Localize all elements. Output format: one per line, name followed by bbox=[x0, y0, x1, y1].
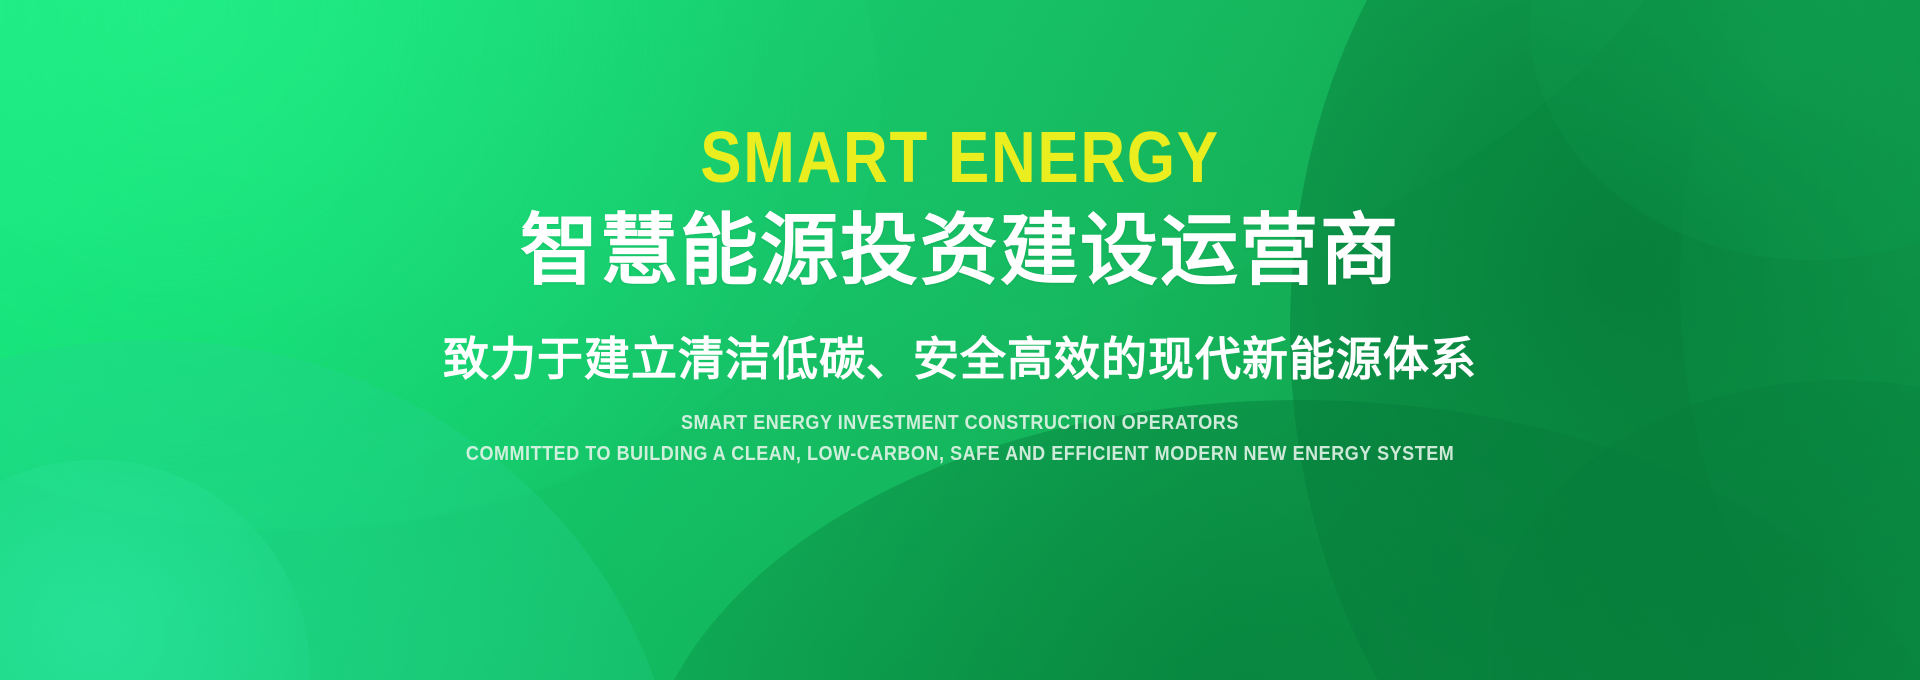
caption-line-one: SMART ENERGY INVESTMENT CONSTRUCTION OPE… bbox=[681, 411, 1239, 436]
headline-chinese: 智慧能源投资建设运营商 bbox=[520, 208, 1400, 294]
smart-energy-banner: SMART ENERGY 智慧能源投资建设运营商 致力于建立清洁低碳、安全高效的… bbox=[0, 0, 1920, 680]
caption-block: SMART ENERGY INVESTMENT CONSTRUCTION OPE… bbox=[411, 411, 1509, 467]
headline-english: SMART ENERGY bbox=[700, 122, 1219, 194]
subtitle-chinese: 致力于建立清洁低碳、安全高效的现代新能源体系 bbox=[443, 332, 1477, 387]
banner-content: SMART ENERGY 智慧能源投资建设运营商 致力于建立清洁低碳、安全高效的… bbox=[0, 0, 1920, 680]
caption-line-two: COMMITTED TO BUILDING A CLEAN, LOW-CARBO… bbox=[466, 442, 1454, 467]
